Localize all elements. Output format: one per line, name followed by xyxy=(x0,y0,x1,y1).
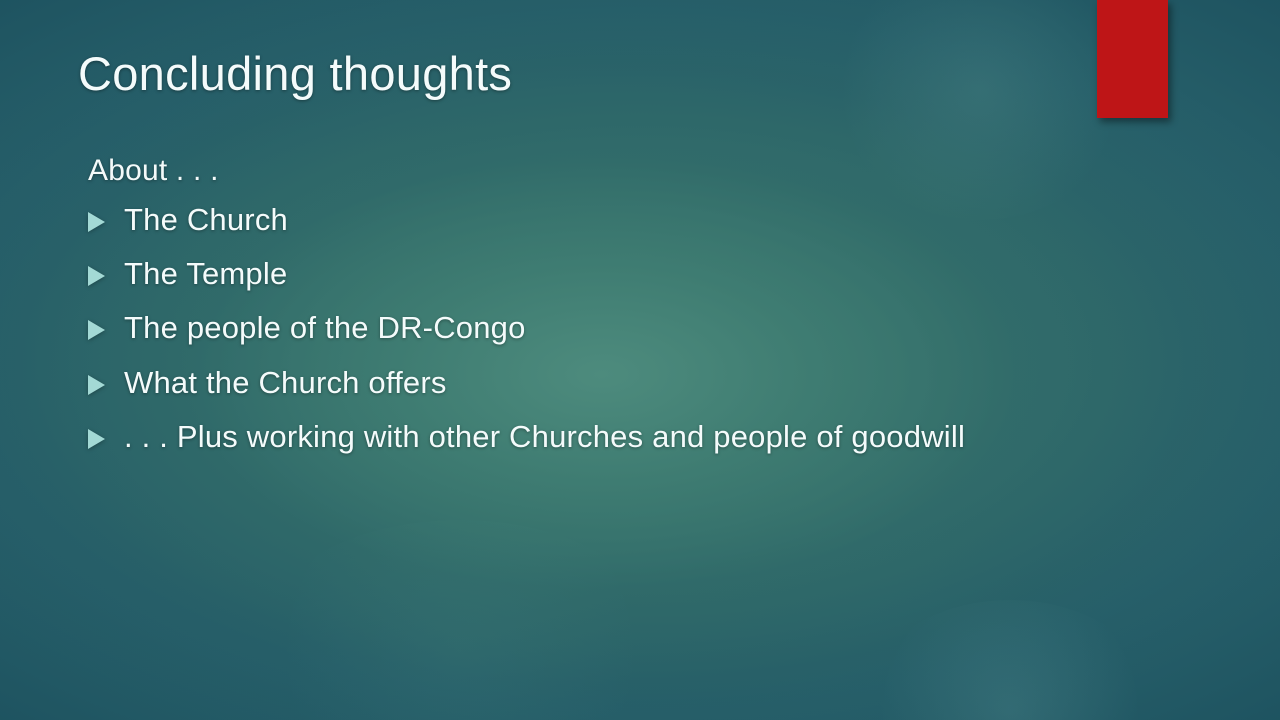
background-bloom-bottom-left xyxy=(250,520,670,720)
bullet-item-label: What the Church offers xyxy=(124,365,447,400)
triangle-right-bullet-icon xyxy=(88,266,105,286)
bullet-item-label: The people of the DR-Congo xyxy=(124,310,526,345)
bullet-list: The Church The Temple The people of the … xyxy=(78,199,1038,459)
red-accent-bar xyxy=(1097,0,1168,118)
triangle-right-bullet-icon xyxy=(88,212,105,232)
background-bloom-bottom-right xyxy=(860,600,1160,720)
bullet-item-label: . . . Plus working with other Churches a… xyxy=(124,419,965,454)
bullet-item: The people of the DR-Congo xyxy=(78,307,1038,349)
slide-title: Concluding thoughts xyxy=(78,47,512,101)
triangle-right-bullet-icon xyxy=(88,320,105,340)
triangle-right-bullet-icon xyxy=(88,429,105,449)
bullet-item: The Church xyxy=(78,199,1038,241)
presentation-slide: Concluding thoughts About . . . The Chur… xyxy=(0,0,1280,720)
bullet-item: What the Church offers xyxy=(78,362,1038,404)
slide-body: About . . . The Church The Temple The pe… xyxy=(78,152,1038,459)
triangle-right-bullet-icon xyxy=(88,375,105,395)
bullet-item: The Temple xyxy=(78,253,1038,295)
bullet-item: . . . Plus working with other Churches a… xyxy=(78,416,1004,458)
bullet-item-label: The Temple xyxy=(124,256,287,291)
lead-text: About . . . xyxy=(88,152,1038,190)
bullet-item-label: The Church xyxy=(124,202,288,237)
